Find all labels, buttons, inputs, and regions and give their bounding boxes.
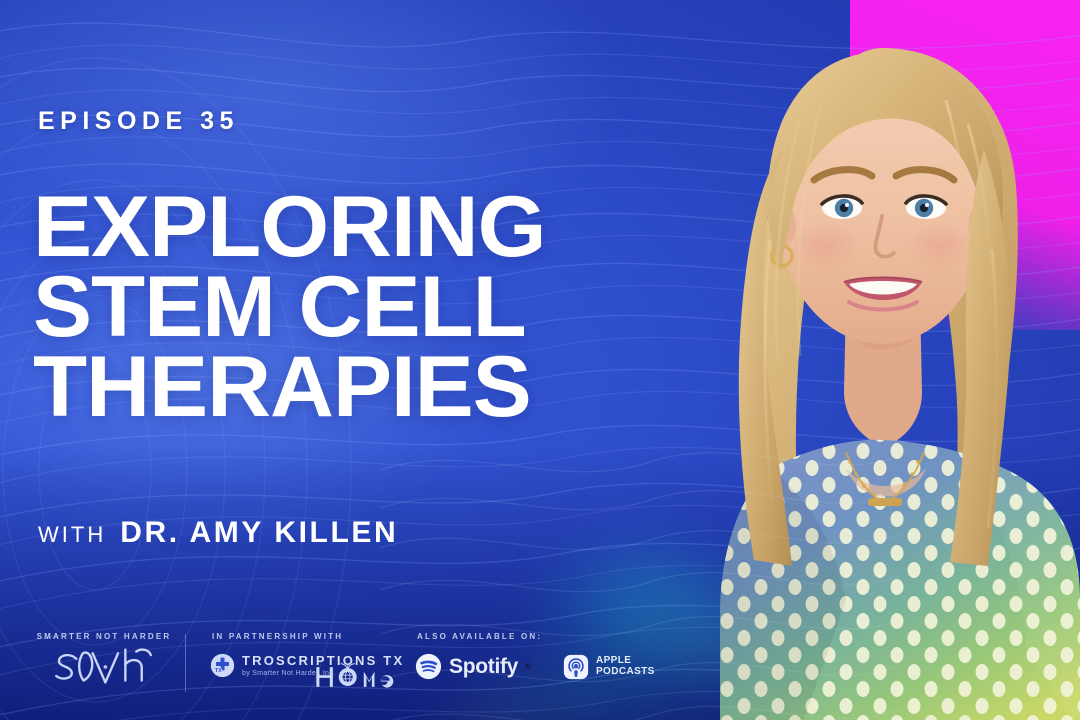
spotify-wordmark: Spotify: [449, 655, 518, 679]
apple-podcasts-line-1: APPLE: [596, 656, 655, 666]
platforms-label: ALSO AVAILABLE ON:: [415, 632, 665, 641]
brand-label: SMARTER NOT HARDER: [34, 632, 174, 641]
host-name: DR. AMY KILLEN: [120, 516, 398, 550]
spotify-icon: [415, 653, 442, 680]
host-portrait: [650, 0, 1080, 720]
footer-logo-strip: SMARTER NOT HARDER: [0, 626, 1080, 702]
snh-monogram-icon: [34, 646, 174, 686]
apple-podcasts-logo[interactable]: APPLE PODCASTS: [563, 654, 655, 680]
platforms-block: ALSO AVAILABLE ON: Spotify: [415, 632, 665, 680]
host-credit: WITH DR. AMY KILLEN: [38, 516, 398, 550]
apple-podcasts-line-2: PODCASTS: [596, 667, 655, 677]
title-line-3: THERAPIES: [33, 348, 545, 428]
episode-cover: EPISODE 35 EXPLORING STEM CELL THERAPIES…: [0, 0, 1080, 720]
title-line-2: STEM CELL: [33, 268, 545, 348]
apple-podcasts-icon: [563, 654, 589, 680]
page-title: EXPLORING STEM CELL THERAPIES: [33, 188, 545, 428]
troscriptions-cross-icon: TX: [210, 653, 235, 678]
footer-divider: [185, 634, 186, 692]
spotify-logo[interactable]: Spotify ®: [415, 653, 531, 680]
home-logo[interactable]: [305, 660, 415, 699]
spotify-trademark: ®: [525, 662, 531, 671]
episode-number: EPISODE 35: [38, 107, 239, 136]
with-label: WITH: [38, 522, 106, 548]
title-line-1: EXPLORING: [33, 188, 545, 268]
brand-block: SMARTER NOT HARDER: [34, 632, 174, 686]
partnership-label: IN PARTNERSHIP WITH: [210, 632, 390, 641]
svg-text:TX: TX: [215, 668, 222, 674]
